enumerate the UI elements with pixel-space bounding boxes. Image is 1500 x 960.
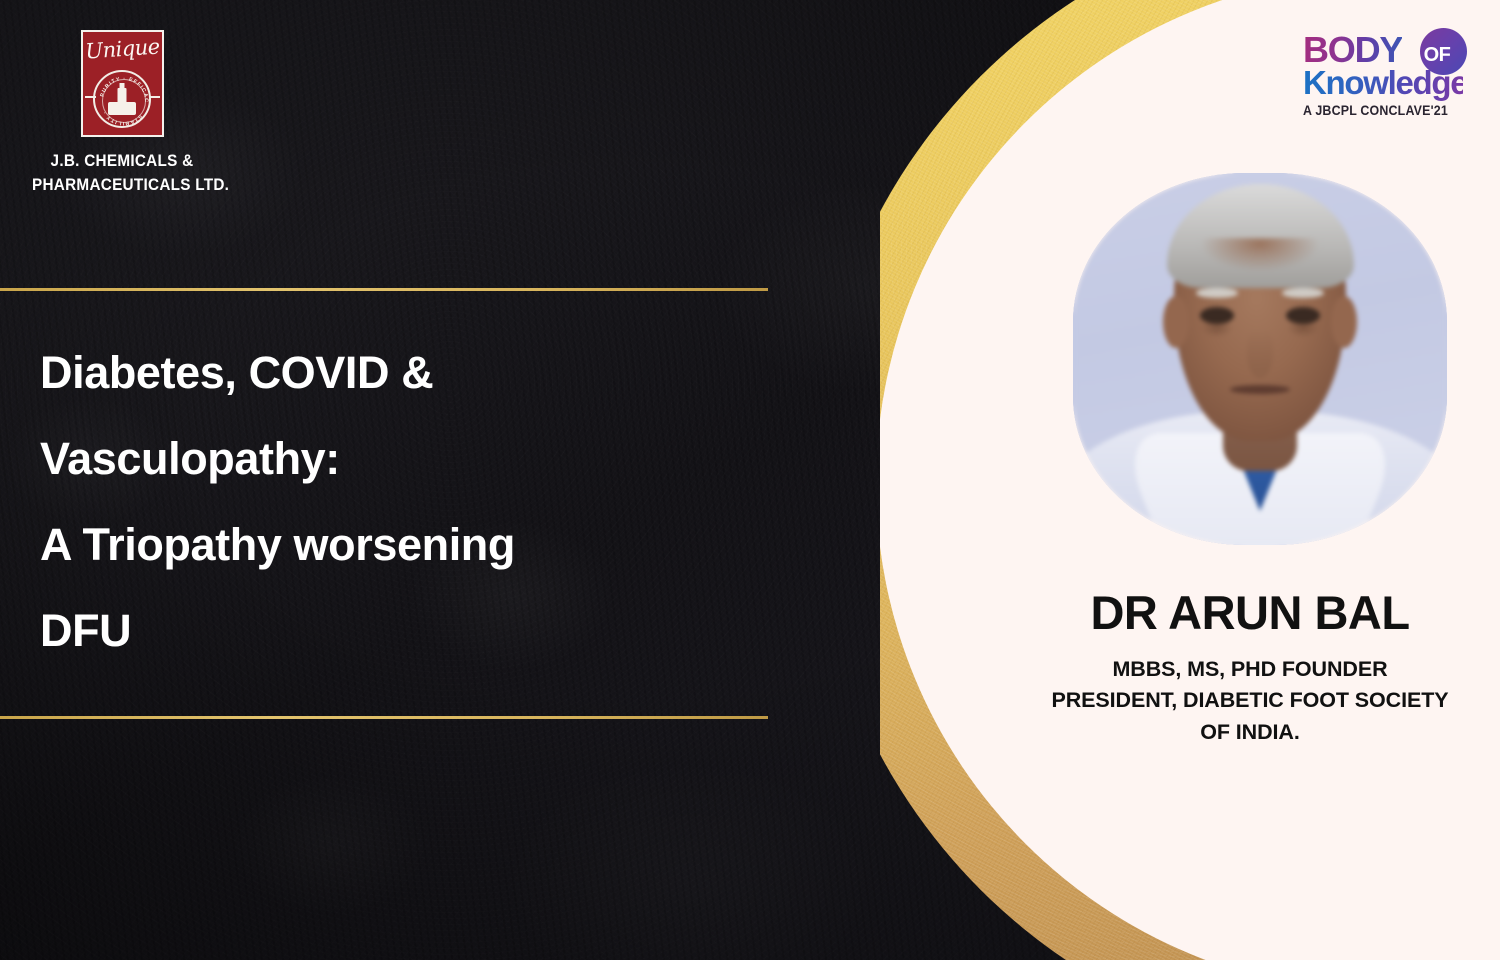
presentation-slide: Unique PURITY · EFFICACY STABILITY · [0, 0, 1500, 960]
speaker-credentials: MBBS, MS, PHD FOUNDER PRESIDENT, DIABETI… [1010, 654, 1490, 748]
seal-tick-right [149, 96, 160, 98]
divider-bottom [0, 716, 768, 719]
quality-seal-icon: PURITY · EFFICACY STABILITY · [93, 70, 151, 128]
photo-softening-overlay [1073, 173, 1447, 545]
title-line-4: DFU [40, 588, 740, 674]
unique-logo-mark: Unique PURITY · EFFICACY STABILITY · [81, 30, 164, 137]
speaker-name: DR ARUN BAL [1010, 588, 1490, 638]
event-logo-top-row: BODY OF [1303, 30, 1463, 70]
seal-tick-left [85, 96, 96, 98]
title-line-1: Diabetes, COVID & [40, 330, 740, 416]
title-line-2: Vasculopathy: [40, 416, 740, 502]
event-logo-tagline: A JBCPL CONCLAVE'21 [1303, 103, 1450, 118]
seal-text-ring: PURITY · EFFICACY STABILITY · [95, 72, 153, 130]
event-logo: BODY OF Knowledge A JBCPL CONCLAVE'21 [1303, 30, 1463, 118]
svg-text:STABILITY ·: STABILITY · [102, 109, 143, 126]
speaker-info: DR ARUN BAL MBBS, MS, PHD FOUNDER PRESID… [1010, 588, 1490, 748]
event-logo-of-word: OF [1417, 35, 1457, 75]
sponsor-name-line-2: PHARMACEUTICALS LTD. [32, 173, 212, 197]
unique-wordmark: Unique [82, 34, 162, 63]
title-line-3: A Triopathy worsening [40, 502, 740, 588]
svg-text:PURITY · EFFICACY: PURITY · EFFICACY [95, 72, 149, 103]
page-title: Diabetes, COVID & Vasculopathy: A Triopa… [40, 330, 740, 674]
speaker-photo [1073, 173, 1447, 545]
divider-top [0, 288, 768, 291]
event-logo-body-word: BODY [1303, 29, 1402, 70]
sponsor-name-line-1: J.B. CHEMICALS & [32, 149, 212, 173]
sponsor-logo: Unique PURITY · EFFICACY STABILITY · [22, 30, 222, 197]
